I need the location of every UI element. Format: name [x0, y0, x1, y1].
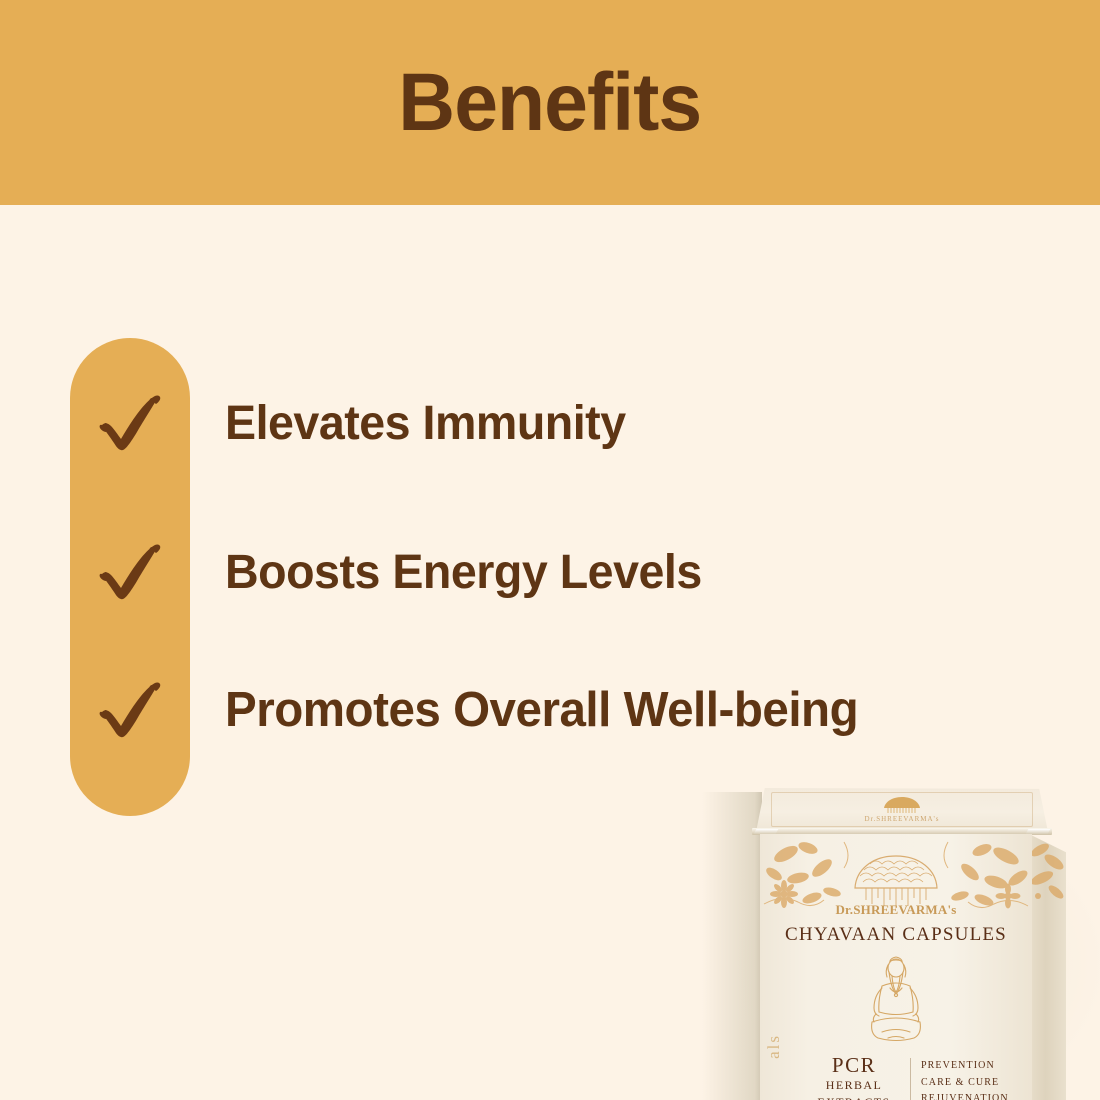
box-lid: Dr.SHREEVARMA's — [756, 788, 1048, 832]
info-divider — [910, 1058, 911, 1100]
list-item: Elevates Immunity — [70, 373, 638, 473]
box-lid-brand-text: Dr.SHREEVARMA's — [864, 815, 939, 823]
pcr-extract-block: PCR HERBAL EXTRACTS — [804, 1054, 904, 1100]
page-title: Benefits — [399, 56, 702, 150]
claim-item: CARE & CURE — [921, 1075, 1009, 1092]
banyan-tree-logo-icon — [882, 796, 922, 814]
list-item-label: Promotes Overall Well-being — [225, 682, 858, 738]
claim-item: REJUVENATION — [921, 1091, 1009, 1100]
check-mark-brush-icon — [70, 660, 190, 760]
check-mark-brush-icon — [70, 373, 190, 473]
list-item: Promotes Overall Well-being — [70, 660, 878, 760]
list-item-label: Elevates Immunity — [225, 396, 626, 451]
box-product-name: CHYAVAAN CAPSULES — [760, 924, 1032, 946]
floral-pattern-decoration — [760, 834, 1032, 912]
box-side-face — [1032, 830, 1066, 1100]
check-mark-brush-icon — [70, 522, 190, 622]
product-box: Dr.SHREEVARMA's — [748, 778, 1100, 1100]
product-claims-block: PREVENTION CARE & CURE REJUVENATION — [921, 1054, 1009, 1100]
pcr-label: PCR — [804, 1054, 904, 1076]
box-front-brand-text: Dr.SHREEVARMA's — [760, 902, 1032, 918]
box-side-floral-decoration — [1032, 834, 1066, 910]
box-front-face: Dr.SHREEVARMA's CHYAVAAN CAPSULES — [760, 834, 1032, 1100]
header-band: Benefits — [0, 0, 1100, 205]
list-item-label: Boosts Energy Levels — [225, 545, 702, 600]
box-side-vertical-text: als — [764, 1034, 784, 1059]
pcr-line-2: EXTRACTS — [804, 1095, 904, 1100]
seated-sage-illustration-icon — [852, 952, 940, 1052]
box-bottom-info: PCR HERBAL EXTRACTS PREVENTION CARE & CU… — [804, 1054, 1024, 1100]
pcr-line-1: HERBAL — [804, 1078, 904, 1093]
list-item: Boosts Energy Levels — [70, 522, 717, 622]
claim-item: PREVENTION — [921, 1058, 1009, 1075]
box-drop-shadow — [702, 792, 762, 1100]
product-box-image: Dr.SHREEVARMA's — [700, 760, 1100, 1100]
